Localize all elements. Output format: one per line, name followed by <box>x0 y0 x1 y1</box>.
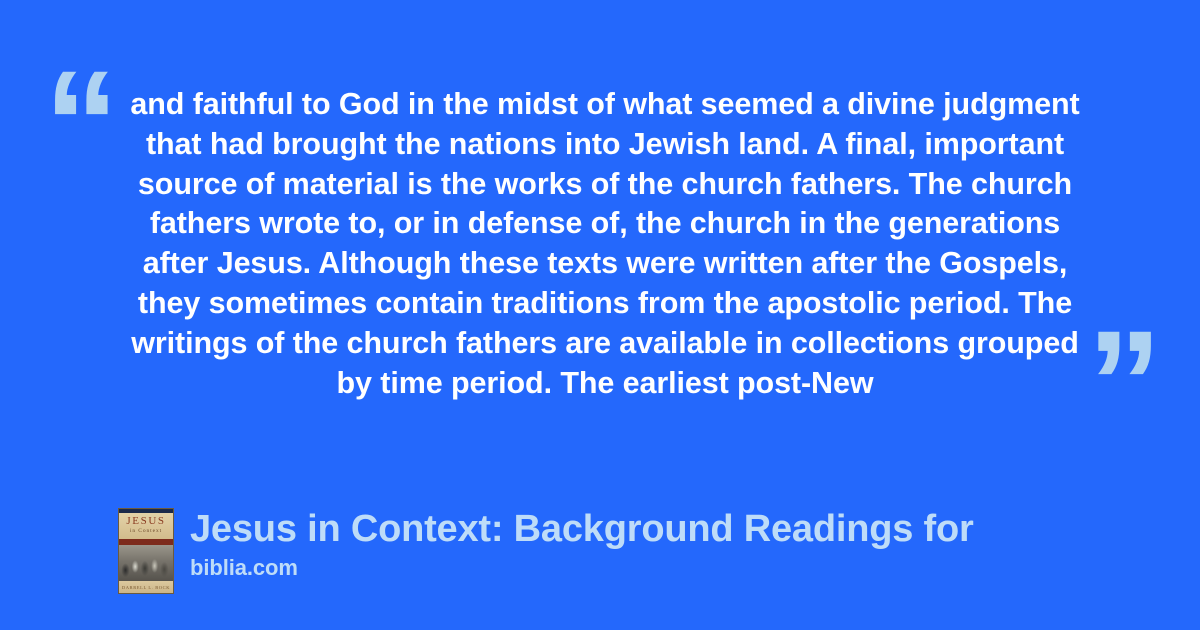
book-cover-bottom-band: DARRELL L. BOCK <box>119 581 173 594</box>
quote-line: by time period. The earliest post-New <box>110 364 1100 404</box>
quote-block: “ and faithful to God in the midst of wh… <box>0 40 1200 420</box>
opening-quote-icon: “ <box>44 48 115 198</box>
book-cover-subtitle: in Context <box>119 527 173 535</box>
book-cover-title: JESUS <box>119 516 173 527</box>
book-cover-photo <box>119 545 173 581</box>
quote-line: that had brought the nations into Jewish… <box>110 125 1100 165</box>
book-cover-thumbnail: JESUS in Context DARRELL L. BOCK <box>118 508 174 594</box>
quote-text: and faithful to God in the midst of what… <box>110 85 1100 403</box>
quote-line: and faithful to God in the midst of what… <box>110 85 1100 125</box>
quote-line: they sometimes contain traditions from t… <box>110 284 1100 324</box>
quote-line: writings of the church fathers are avail… <box>110 324 1100 364</box>
quote-line: source of material is the works of the c… <box>110 165 1100 205</box>
book-cover-author: DARRELL L. BOCK <box>119 585 173 590</box>
source-site: biblia.com <box>190 553 1180 583</box>
book-title: Jesus in Context: Background Readings fo… <box>190 505 1180 553</box>
closing-quote-icon: ” <box>1087 308 1158 458</box>
book-cover-title-area: JESUS in Context <box>119 513 173 539</box>
source-footer: JESUS in Context DARRELL L. BOCK Jesus i… <box>118 505 1178 600</box>
quote-line: fathers wrote to, or in defense of, the … <box>110 204 1100 244</box>
quote-card: “ and faithful to God in the midst of wh… <box>0 0 1200 630</box>
quote-line: after Jesus. Although these texts were w… <box>110 244 1100 284</box>
source-text-group: Jesus in Context: Background Readings fo… <box>190 505 1180 583</box>
